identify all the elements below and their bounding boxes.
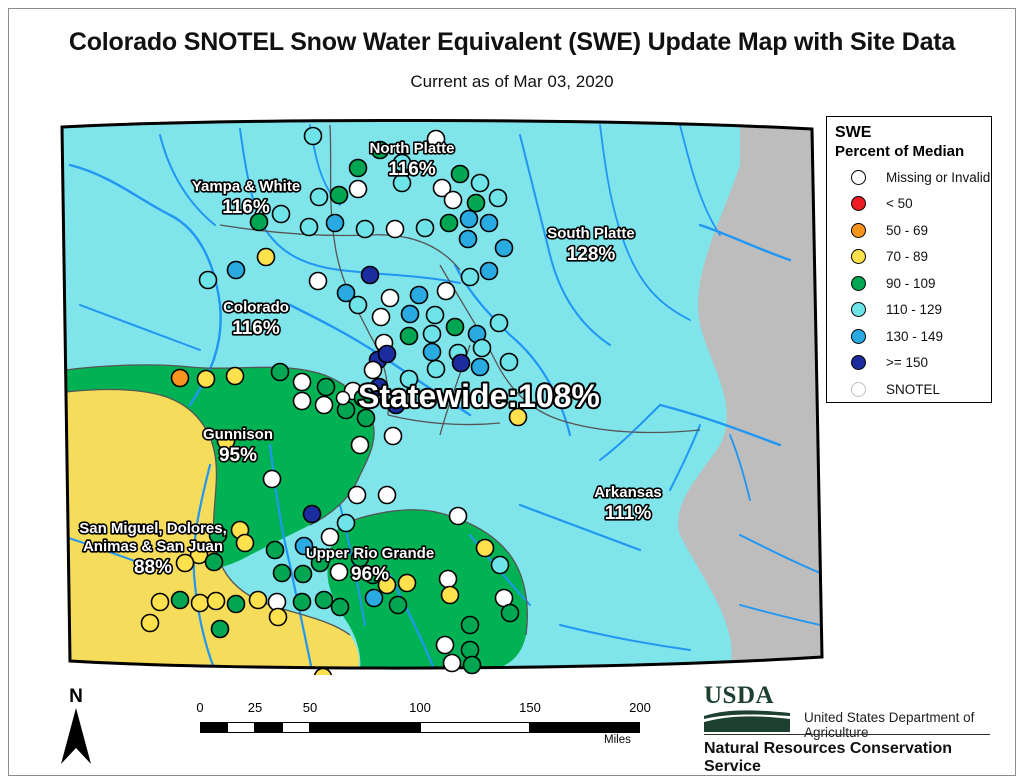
scale-tick-label: 100 bbox=[409, 700, 431, 715]
legend-row: 110 - 129 bbox=[835, 297, 983, 324]
snotel-site-dot[interactable] bbox=[331, 564, 348, 581]
snotel-site-dot[interactable] bbox=[440, 571, 457, 588]
basin-name-label: San Miguel, Dolores, bbox=[79, 520, 227, 537]
snotel-site-dot[interactable] bbox=[264, 471, 281, 488]
legend-subtitle: Percent of Median bbox=[835, 142, 983, 161]
snotel-site-dot[interactable] bbox=[474, 340, 491, 357]
basin-percent-label: 95% bbox=[219, 445, 257, 466]
snotel-site-dot[interactable] bbox=[352, 437, 369, 454]
snotel-site-dot[interactable] bbox=[331, 187, 348, 204]
scale-tick-label: 0 bbox=[196, 700, 203, 715]
snotel-site-dot[interactable] bbox=[496, 240, 513, 257]
basin-percent-label: 88% bbox=[134, 557, 172, 578]
snotel-site-dot[interactable] bbox=[350, 181, 367, 198]
basin-percent-label: 111% bbox=[605, 503, 652, 524]
snotel-site-dot[interactable] bbox=[274, 565, 291, 582]
basin-name-label: Upper Rio Grande bbox=[306, 545, 434, 562]
legend-panel: SWE Percent of Median Missing or Invalid… bbox=[826, 116, 992, 403]
snotel-site-dot[interactable] bbox=[411, 287, 428, 304]
snotel-site-dot[interactable] bbox=[502, 605, 519, 622]
snotel-site-dot[interactable] bbox=[453, 355, 470, 372]
snotel-site-dot[interactable] bbox=[491, 315, 508, 332]
usda-divider bbox=[704, 734, 990, 735]
snotel-site-dot[interactable] bbox=[402, 306, 419, 323]
snotel-site-dot[interactable] bbox=[365, 362, 382, 379]
snotel-site-dot[interactable] bbox=[428, 361, 445, 378]
legend-swatch-icon bbox=[851, 249, 866, 264]
snotel-site-dot[interactable] bbox=[472, 359, 489, 376]
usda-agency-name: United States Department of Agriculture bbox=[804, 710, 996, 740]
map-page: Colorado SNOTEL Snow Water Equivalent (S… bbox=[0, 0, 1024, 784]
snotel-site-dot[interactable] bbox=[318, 379, 335, 396]
snotel-site-dot[interactable] bbox=[332, 599, 349, 616]
snotel-site-dot[interactable] bbox=[294, 594, 311, 611]
snotel-site-dot[interactable] bbox=[462, 617, 479, 634]
legend-label: 90 - 109 bbox=[886, 276, 936, 291]
snotel-site-dot[interactable] bbox=[472, 175, 489, 192]
snotel-site-dot[interactable] bbox=[399, 575, 416, 592]
scale-bar-segment bbox=[255, 722, 282, 733]
basin-name-label: South Platte bbox=[547, 225, 635, 242]
snotel-site-dot[interactable] bbox=[322, 529, 339, 546]
snotel-site-dot[interactable] bbox=[172, 592, 189, 609]
snotel-site-dot[interactable] bbox=[228, 596, 245, 613]
snotel-site-dot[interactable] bbox=[327, 215, 344, 232]
snotel-site-dot[interactable] bbox=[267, 542, 284, 559]
snotel-site-dot[interactable] bbox=[350, 160, 367, 177]
scale-tick-label: 200 bbox=[629, 700, 651, 715]
snotel-site-dot[interactable] bbox=[468, 195, 485, 212]
snotel-site-dot[interactable] bbox=[338, 515, 355, 532]
legend-label: Missing or Invalid bbox=[886, 170, 990, 185]
snotel-site-dot[interactable] bbox=[152, 594, 169, 611]
snotel-site-dot[interactable] bbox=[172, 370, 189, 387]
snotel-site-dot[interactable] bbox=[315, 669, 332, 676]
basin-name-label: Gunnison bbox=[203, 426, 273, 443]
north-arrow-label: N bbox=[52, 686, 100, 708]
basin-percent-label: 116% bbox=[222, 197, 270, 218]
snotel-site-dot[interactable] bbox=[427, 307, 444, 324]
snotel-site-dot[interactable] bbox=[441, 215, 458, 232]
snotel-site-dot[interactable] bbox=[301, 219, 318, 236]
scale-bar-segment bbox=[282, 722, 310, 733]
snotel-site-dot[interactable] bbox=[270, 609, 287, 626]
snotel-site-dot[interactable] bbox=[437, 637, 454, 654]
colorado-map-svg[interactable]: North Platte116%Yampa & White116%South P… bbox=[40, 105, 840, 675]
page-subtitle: Current as of Mar 03, 2020 bbox=[0, 72, 1024, 92]
scale-bar: 02550100150200 Miles bbox=[200, 700, 640, 750]
legend-rows: Missing or Invalid< 5050 - 6970 - 8990 -… bbox=[835, 164, 983, 403]
snotel-site-dot[interactable] bbox=[208, 593, 225, 610]
usda-swoosh-icon bbox=[704, 710, 790, 732]
statewide-label: Statewide:108% bbox=[358, 378, 600, 414]
snotel-site-dot[interactable] bbox=[250, 592, 267, 609]
snotel-site-dot[interactable] bbox=[460, 231, 477, 248]
snotel-site-dot[interactable] bbox=[424, 326, 441, 343]
basin-name-label: Colorado bbox=[223, 299, 289, 316]
basin-name-label: Animas & San Juan bbox=[83, 538, 223, 555]
scale-bar-segment bbox=[200, 722, 227, 733]
snotel-site-dot[interactable] bbox=[387, 221, 404, 238]
scale-bar-segment bbox=[310, 722, 420, 733]
snotel-site-dot[interactable] bbox=[445, 192, 462, 209]
usda-wordmark: USDA bbox=[704, 682, 774, 710]
snotel-site-dot[interactable] bbox=[379, 487, 396, 504]
snotel-site-dot[interactable] bbox=[349, 487, 366, 504]
legend-title: SWE bbox=[835, 123, 983, 142]
snotel-site-dot[interactable] bbox=[461, 211, 478, 228]
legend-row: 90 - 109 bbox=[835, 270, 983, 297]
legend-label: 50 - 69 bbox=[886, 223, 928, 238]
scale-bar-segment bbox=[530, 722, 640, 733]
snotel-site-dot[interactable] bbox=[450, 508, 467, 525]
snotel-site-dot[interactable] bbox=[192, 595, 209, 612]
snotel-site-dot[interactable] bbox=[452, 166, 469, 183]
snotel-site-dot[interactable] bbox=[464, 657, 481, 674]
snotel-site-dot[interactable] bbox=[417, 220, 434, 237]
legend-label: 110 - 129 bbox=[886, 302, 942, 317]
snotel-site-dot[interactable] bbox=[424, 344, 441, 361]
snotel-site-dot[interactable] bbox=[373, 309, 390, 326]
snotel-site-dot[interactable] bbox=[438, 283, 455, 300]
snotel-site-dot[interactable] bbox=[198, 371, 215, 388]
basin-percent-label: 116% bbox=[388, 159, 436, 180]
north-arrow-icon bbox=[52, 706, 100, 768]
snotel-site-dot[interactable] bbox=[481, 215, 498, 232]
legend-swatch-icon bbox=[851, 223, 866, 238]
legend-swatch-icon bbox=[851, 382, 866, 397]
snotel-site-dot[interactable] bbox=[227, 368, 244, 385]
scale-tick-label: 25 bbox=[248, 700, 262, 715]
legend-swatch-icon bbox=[851, 196, 866, 211]
legend-label: 130 - 149 bbox=[886, 329, 943, 344]
snotel-site-dot[interactable] bbox=[177, 555, 194, 572]
snotel-site-dot[interactable] bbox=[442, 587, 459, 604]
snotel-site-dot[interactable] bbox=[228, 262, 245, 279]
legend-row: Missing or Invalid bbox=[835, 164, 983, 191]
snotel-site-dot[interactable] bbox=[444, 655, 461, 672]
page-title: Colorado SNOTEL Snow Water Equivalent (S… bbox=[0, 28, 1024, 57]
legend-row: 130 - 149 bbox=[835, 323, 983, 350]
snotel-site-dot[interactable] bbox=[447, 319, 464, 336]
snotel-site-dot[interactable] bbox=[492, 557, 509, 574]
snotel-site-dot[interactable] bbox=[295, 566, 312, 583]
usda-logo: USDA United States Department of Agricul… bbox=[696, 682, 996, 762]
snotel-site-dot[interactable] bbox=[362, 267, 379, 284]
snotel-site-dot[interactable] bbox=[366, 590, 383, 607]
legend-swatch-icon bbox=[851, 302, 866, 317]
statewide-marker-dot bbox=[337, 392, 350, 405]
snotel-site-dot[interactable] bbox=[311, 189, 328, 206]
legend-row: < 50 bbox=[835, 191, 983, 218]
basin-name-label: North Platte bbox=[369, 140, 454, 157]
snotel-site-dot[interactable] bbox=[481, 263, 498, 280]
basin-percent-label: 116% bbox=[232, 318, 280, 339]
snotel-site-dot[interactable] bbox=[462, 269, 479, 286]
snotel-site-dot[interactable] bbox=[490, 190, 507, 207]
scale-bar-units: Miles bbox=[604, 734, 631, 746]
legend-label: >= 150 bbox=[886, 355, 928, 370]
snotel-site-dot[interactable] bbox=[273, 206, 290, 223]
basin-name-label: Yampa & White bbox=[192, 178, 300, 195]
legend-swatch-icon bbox=[851, 170, 866, 185]
snotel-site-dot[interactable] bbox=[310, 273, 327, 290]
legend-row: 70 - 89 bbox=[835, 244, 983, 271]
snotel-site-dot[interactable] bbox=[379, 346, 396, 363]
snotel-site-dot[interactable] bbox=[294, 393, 311, 410]
snotel-site-dot[interactable] bbox=[350, 297, 367, 314]
scale-tick-label: 150 bbox=[519, 700, 541, 715]
snotel-site-dot[interactable] bbox=[304, 506, 321, 523]
snotel-site-dot[interactable] bbox=[385, 428, 402, 445]
snotel-site-dot[interactable] bbox=[237, 535, 254, 552]
snotel-site-dot[interactable] bbox=[316, 397, 333, 414]
snotel-site-dot[interactable] bbox=[200, 272, 217, 289]
basin-percent-label: 128% bbox=[567, 244, 616, 265]
snotel-site-dot[interactable] bbox=[501, 354, 518, 371]
snotel-site-dot[interactable] bbox=[294, 374, 311, 391]
snotel-site-dot[interactable] bbox=[212, 621, 229, 638]
legend-swatch-icon bbox=[851, 276, 866, 291]
snotel-site-dot[interactable] bbox=[357, 221, 374, 238]
snotel-site-dot[interactable] bbox=[401, 328, 418, 345]
scale-tick-label: 50 bbox=[303, 700, 317, 715]
snotel-site-dot[interactable] bbox=[142, 615, 159, 632]
scale-bar-segment bbox=[420, 722, 530, 733]
scale-bar-segment bbox=[227, 722, 255, 733]
snotel-site-dot[interactable] bbox=[272, 364, 289, 381]
legend-label: SNOTEL bbox=[886, 382, 940, 397]
snotel-site-dot[interactable] bbox=[316, 592, 333, 609]
north-arrow: N bbox=[52, 686, 100, 766]
legend-row: 50 - 69 bbox=[835, 217, 983, 244]
map-canvas[interactable]: North Platte116%Yampa & White116%South P… bbox=[40, 105, 840, 675]
legend-label: 70 - 89 bbox=[886, 249, 928, 264]
snotel-site-dot[interactable] bbox=[382, 290, 399, 307]
legend-label: < 50 bbox=[886, 196, 913, 211]
basin-name-label: Arkansas bbox=[594, 484, 662, 501]
legend-swatch-icon bbox=[851, 329, 866, 344]
snotel-site-dot[interactable] bbox=[390, 597, 407, 614]
basin-percent-label: 96% bbox=[351, 564, 389, 585]
legend-swatch-icon bbox=[851, 355, 866, 370]
snotel-site-dot[interactable] bbox=[258, 249, 275, 266]
snotel-site-dot[interactable] bbox=[206, 554, 223, 571]
legend-row: SNOTEL bbox=[835, 376, 983, 403]
legend-row: >= 150 bbox=[835, 350, 983, 377]
snotel-site-dot[interactable] bbox=[305, 128, 322, 145]
snotel-site-dot[interactable] bbox=[477, 540, 494, 557]
usda-service-name: Natural Resources Conservation Service bbox=[704, 740, 996, 776]
